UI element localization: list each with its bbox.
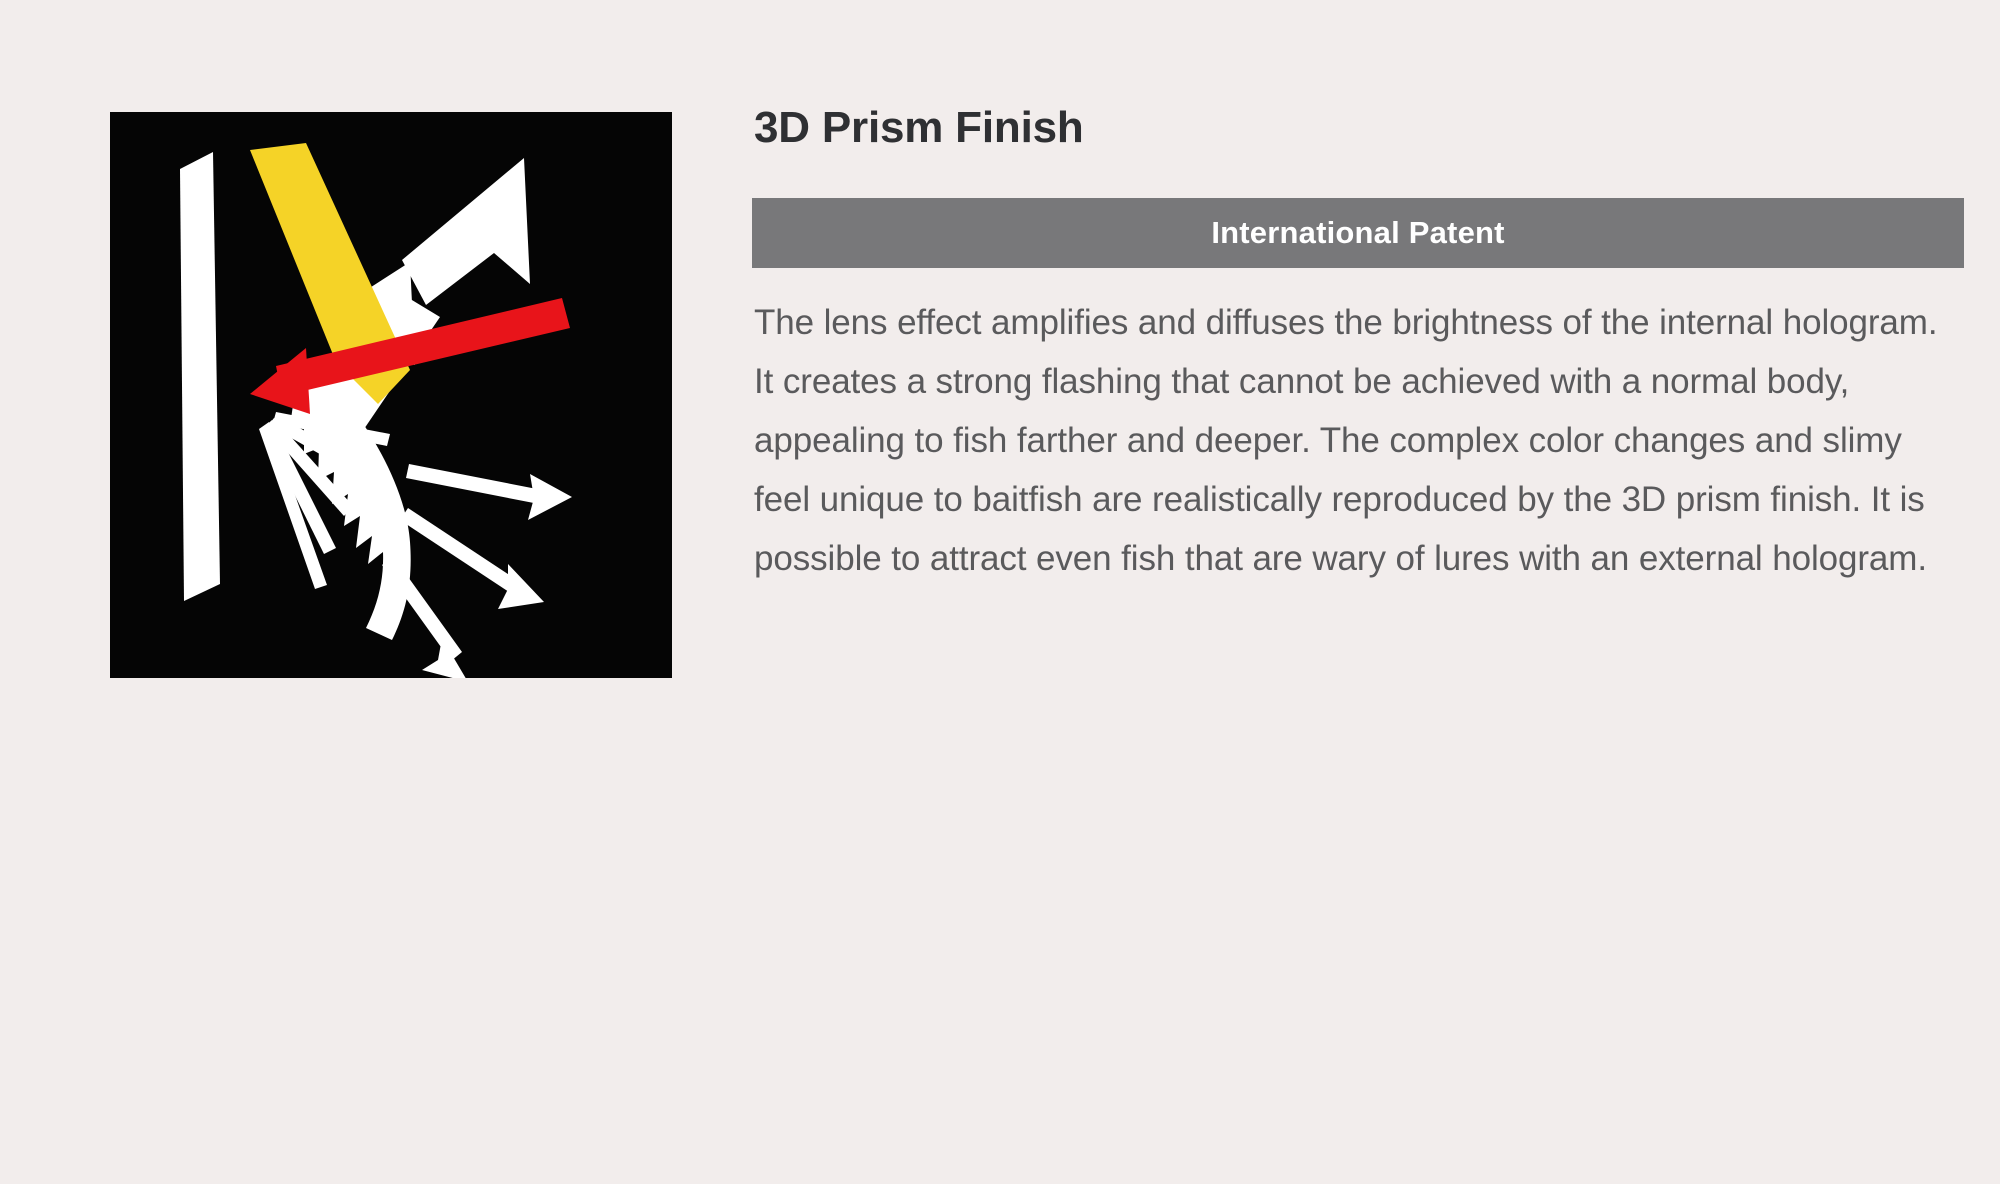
patent-banner-label: International Patent [1211, 215, 1504, 251]
diffused-arrow-lower-head [422, 638, 468, 678]
prism-finish-diagram [110, 112, 672, 678]
status-badge: International Patent [752, 198, 1964, 268]
diffused-arrow-upper-head [528, 474, 572, 520]
description-text: The lens effect amplifies and diffuses t… [754, 294, 1964, 588]
body-wall-shape [180, 152, 220, 601]
diffused-arrow-upper [406, 464, 542, 504]
page-root: 3D Prism Finish International Patent The… [0, 0, 2000, 1184]
diffused-arrow-middle [400, 508, 520, 594]
page-title: 3D Prism Finish [754, 104, 1964, 152]
reflection-arrow-head [402, 158, 530, 305]
red-ray-head [250, 348, 310, 414]
content-column: 3D Prism Finish International Patent The… [752, 104, 1964, 588]
description-paragraph: The lens effect amplifies and diffuses t… [754, 294, 1964, 588]
